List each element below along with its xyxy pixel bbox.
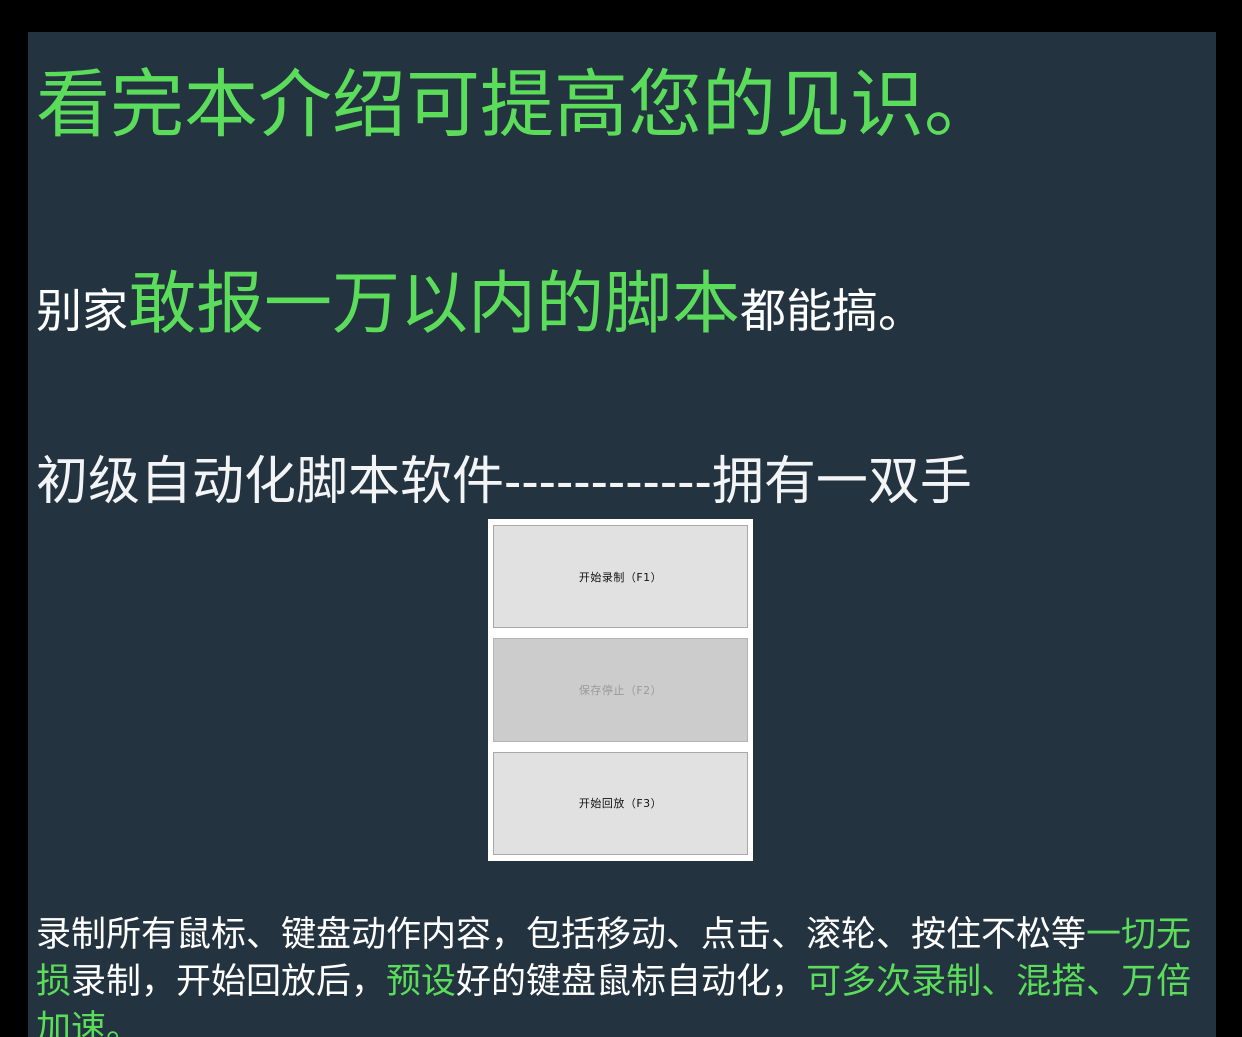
slide-subheadline: 别家 敢报一万以内的脚本 都能搞。 (36, 270, 924, 338)
slide-title: 看完本介绍可提高您的见识。 (36, 68, 998, 142)
start-playback-button[interactable]: 开始回放（F3） (493, 752, 748, 855)
save-stop-button[interactable]: 保存停止（F2） (493, 638, 748, 741)
slide-tagline: 初级自动化脚本软件 ------------ 拥有一双手 (36, 456, 972, 508)
tagline-dashes: ------------ (504, 456, 712, 508)
slide-panel: 看完本介绍可提高您的见识。 别家 敢报一万以内的脚本 都能搞。 初级自动化脚本软… (28, 32, 1216, 1037)
description-segment-3: 好的键盘鼠标自动化， (456, 962, 806, 1001)
app-window: 开始录制（F1） 保存停止（F2） 开始回放（F3） (488, 519, 753, 861)
description-segment-2: 录制，开始回放后， (71, 962, 386, 1001)
slide-stage: 看完本介绍可提高您的见识。 别家 敢报一万以内的脚本 都能搞。 初级自动化脚本软… (0, 0, 1242, 1037)
description-segment-1: 录制所有鼠标、键盘动作内容，包括移动、点击、滚轮、按住不松等 (36, 915, 1086, 954)
description-highlight-2: 预设 (386, 962, 456, 1001)
tagline-tail: 拥有一双手 (712, 456, 972, 508)
subheadline-highlight: 敢报一万以内的脚本 (128, 270, 740, 338)
description-paragraph: 录制所有鼠标、键盘动作内容，包括移动、点击、滚轮、按住不松等一切无损录制，开始回… (36, 912, 1208, 1037)
subheadline-suffix: 都能搞。 (740, 288, 924, 334)
tagline-label: 初级自动化脚本软件 (36, 456, 504, 508)
subheadline-prefix: 别家 (36, 288, 128, 334)
start-record-button[interactable]: 开始录制（F1） (493, 525, 748, 628)
